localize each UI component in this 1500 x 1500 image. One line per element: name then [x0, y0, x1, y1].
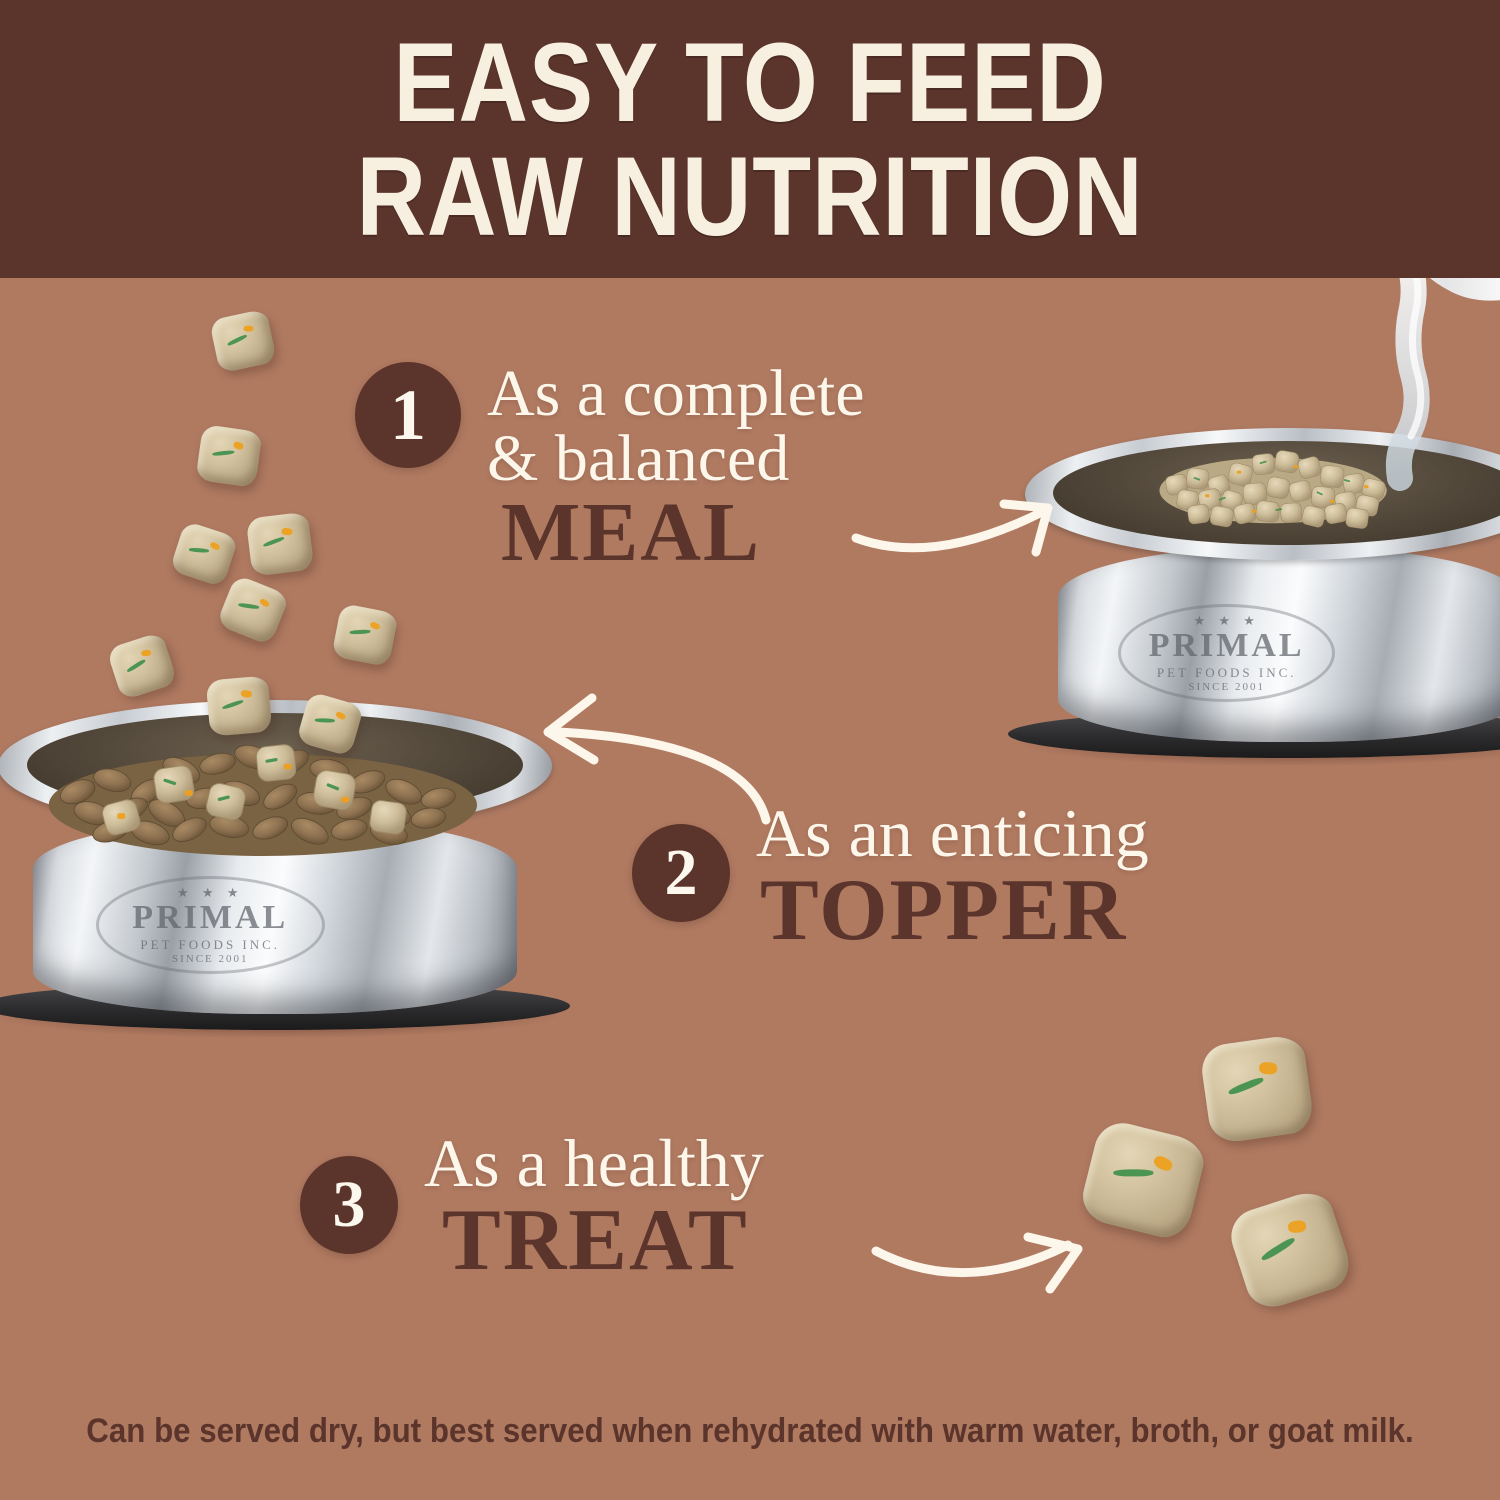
logo-stars: ★ ★ ★: [177, 886, 243, 899]
step-light-line-2: & balanced: [487, 427, 865, 492]
step-strong-line: MEAL: [501, 493, 865, 573]
step-light-line-1: As a complete: [487, 362, 865, 427]
logo-brand-name: PRIMAL: [132, 901, 288, 935]
nugget: [331, 603, 398, 667]
step-treat: 3 As a healthy TREAT: [300, 1130, 764, 1282]
step-topper: 2 As an enticing TOPPER: [632, 800, 1149, 952]
title-line-2: RAW NUTRITION: [105, 140, 1395, 254]
kibble-with-nuggets: [32, 716, 502, 856]
step-text-block: As a healthy TREAT: [424, 1130, 764, 1282]
step-strong-line: TREAT: [442, 1199, 764, 1283]
primal-logo-engraving: ★ ★ ★ PRIMAL PET FOODS INC. SINCE 2001: [96, 876, 325, 974]
step-strong-line: TOPPER: [760, 869, 1149, 953]
step-text-block: As an enticing TOPPER: [756, 800, 1149, 952]
primal-logo-engraving: ★ ★ ★ PRIMAL PET FOODS INC. SINCE 2001: [1118, 604, 1335, 702]
promo-poster: ★ ★ ★ PRIMAL PET FOODS INC. SINCE 2001: [0, 0, 1500, 1500]
title-line-1: EASY TO FEED: [105, 26, 1395, 140]
logo-stars: ★ ★ ★: [1193, 614, 1259, 627]
logo-subtitle: PET FOODS INC.: [1157, 666, 1297, 679]
step-light-line-1: As a healthy: [424, 1130, 764, 1197]
page-title: EASY TO FEED RAW NUTRITION: [105, 26, 1395, 254]
logo-subtitle: PET FOODS INC.: [140, 938, 280, 951]
header-band: EASY TO FEED RAW NUTRITION: [0, 0, 1500, 278]
step-number-badge: 2: [632, 824, 730, 922]
footer-note: Can be served dry, but best served when …: [60, 1412, 1440, 1451]
step-meal: 1 As a complete & balanced MEAL: [355, 362, 865, 573]
step-number-badge: 3: [300, 1156, 398, 1254]
bowl-topper: ★ ★ ★ PRIMAL PET FOODS INC. SINCE 2001: [0, 700, 570, 1030]
logo-since: SINCE 2001: [1188, 682, 1265, 693]
nugget: [195, 424, 262, 488]
step-light-line-1: As an enticing: [756, 800, 1149, 867]
nugget: [206, 675, 273, 736]
nugget: [246, 511, 315, 576]
step-text-block: As a complete & balanced MEAL: [487, 362, 865, 573]
logo-since: SINCE 2001: [172, 954, 249, 965]
step-number-badge: 1: [355, 362, 461, 468]
logo-brand-name: PRIMAL: [1149, 629, 1305, 663]
nugget: [1199, 1033, 1316, 1145]
